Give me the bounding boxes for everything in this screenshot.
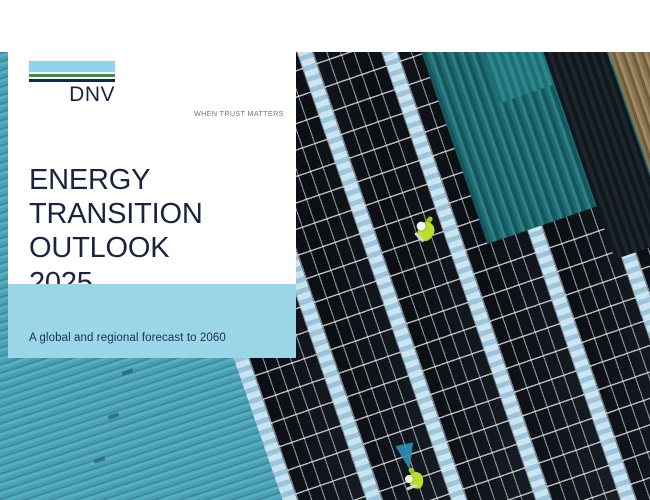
logo-bar-navy-icon: [29, 79, 115, 82]
subtitle-band: A global and regional forecast to 2060: [8, 284, 296, 358]
logo-wordmark: DNV: [29, 84, 115, 106]
worker-leg: [406, 484, 417, 491]
page-title-line-3: OUTLOOK: [29, 231, 203, 265]
page-subtitle: A global and regional forecast to 2060: [29, 332, 226, 344]
brand-tagline: WHEN TRUST MATTERS: [194, 109, 284, 118]
page-title-line-2: TRANSITION: [29, 197, 203, 231]
page-title: ENERGY TRANSITION OUTLOOK 2025: [29, 163, 203, 300]
logo-bar-cyan-icon: [29, 61, 115, 72]
page-title-line-1: ENERGY: [29, 163, 203, 197]
report-cover: DNV WHEN TRUST MATTERS ENERGY TRANSITION…: [0, 0, 650, 500]
worker-hi-vis-lower: [403, 465, 427, 492]
dnv-logo: DNV: [29, 61, 115, 106]
